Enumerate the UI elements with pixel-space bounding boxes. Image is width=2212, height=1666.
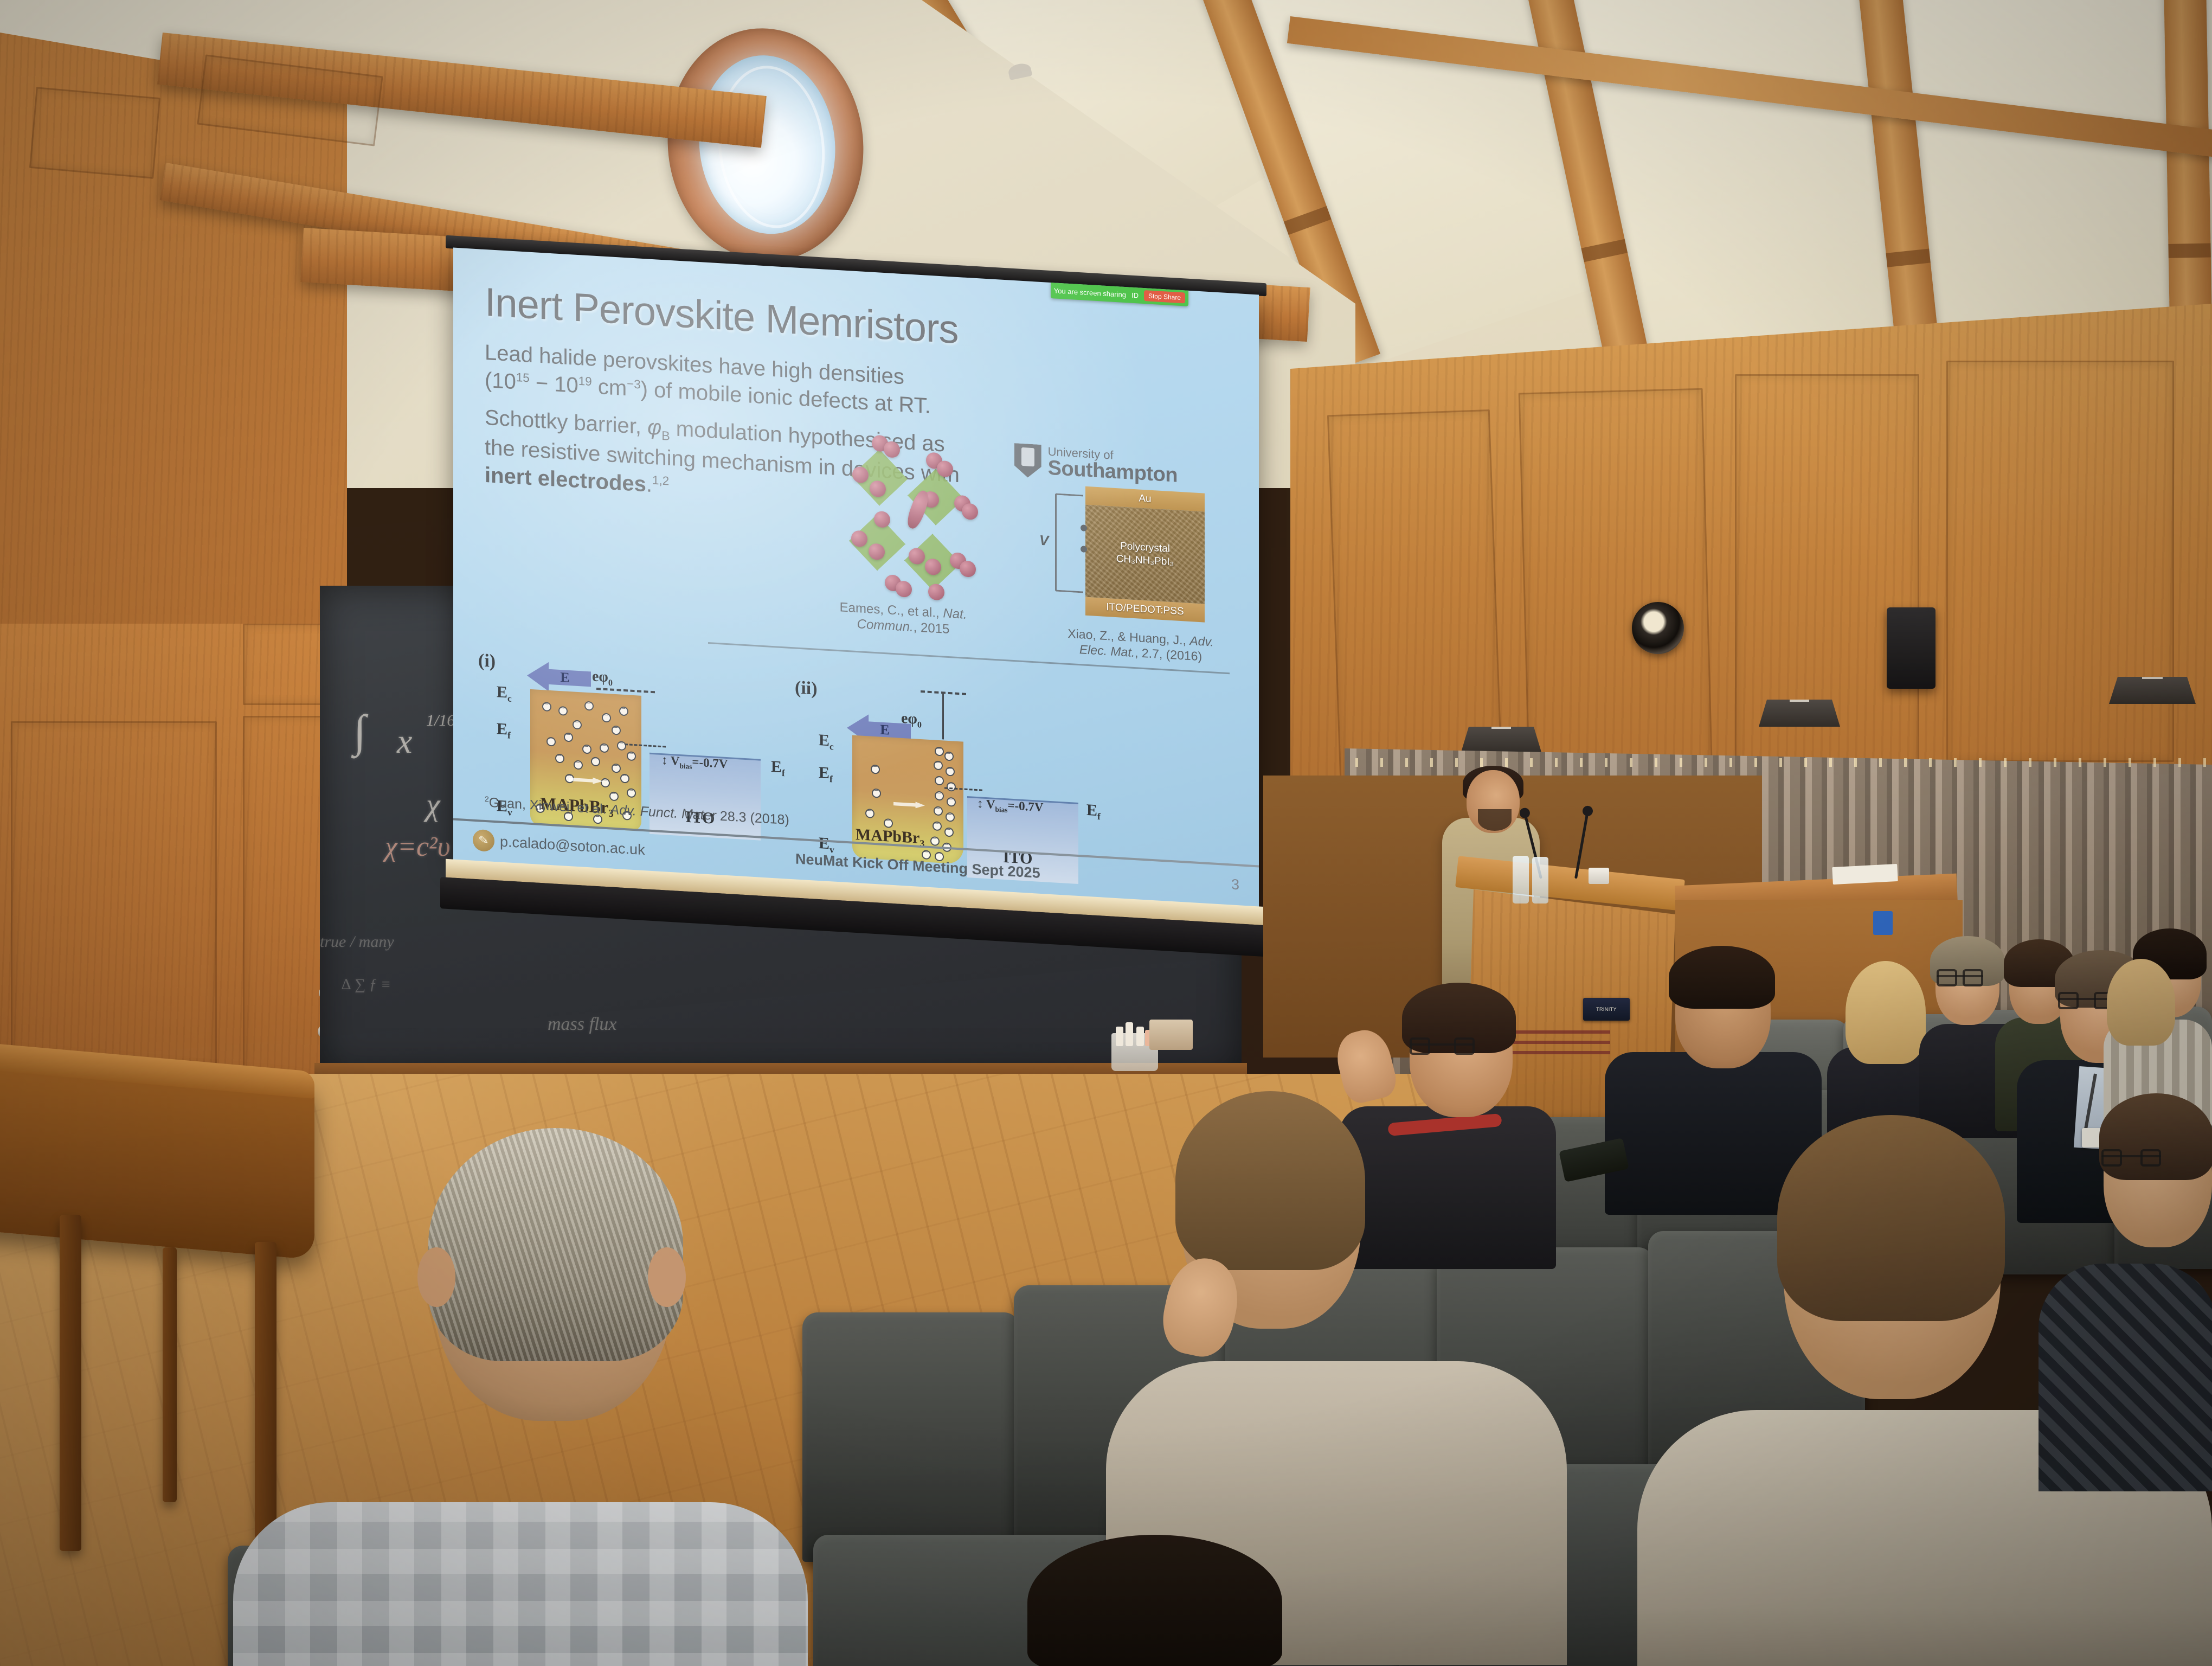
chalk-mark: χ=c²υ [385, 831, 451, 863]
pencil-icon: ✎ [471, 829, 496, 852]
stop-share-button[interactable]: Stop Share [1144, 290, 1185, 303]
band-diagram-ii: (ii) E [795, 677, 1131, 860]
lecture-hall-photo: ∫ x 1/16 χ χ=c²υ mass flux true / many ∆… [0, 0, 2212, 1666]
eyeglasses [1410, 1043, 1475, 1046]
crystal-caption: Eames, C., et al., Nat. Commun., 2015 [822, 599, 985, 639]
chalk-mark: x [397, 721, 412, 761]
eyeglasses [1937, 975, 1983, 977]
chalk-mark: ∆ ∑ ƒ ≡ [342, 976, 391, 994]
meeting-id-label: ID [1131, 291, 1139, 299]
wall-speaker [1887, 607, 1935, 689]
barrier-label-i: eφ0 [592, 668, 613, 689]
ion-drift-arrow-i [569, 776, 603, 785]
curtain-rail-lights [1355, 758, 2212, 767]
eyeglasses [2101, 1155, 2161, 1157]
presenter-email-text: p.calado@soton.ac.uk [500, 833, 645, 858]
wall-panel [29, 87, 160, 178]
wall-sconce [1759, 700, 1840, 727]
trinity-college-plaque: TRINITY [1583, 998, 1630, 1021]
water-bottle [1513, 856, 1529, 904]
level-ef-ii: Ef [819, 764, 833, 785]
piano-leg [60, 1215, 81, 1551]
audience-hair [1175, 1091, 1365, 1270]
audience-hair [1669, 946, 1775, 1009]
barrier-label-ii: eφ0 [901, 710, 922, 731]
shield-icon [1014, 443, 1041, 478]
wall-panel [1519, 388, 1713, 784]
perovskite-crystal-figure [844, 433, 979, 599]
presenter-beard [1478, 809, 1512, 831]
presenter-email: ✎ p.calado@soton.ac.uk [473, 829, 645, 861]
water-bottle [1532, 857, 1548, 904]
chalk-mark: χ [426, 786, 440, 823]
audience-shoulders [233, 1502, 808, 1666]
wall-panel [11, 721, 217, 1068]
wall-sconce [1461, 727, 1542, 754]
ear [648, 1247, 686, 1307]
ion-drift-arrow-ii [893, 800, 925, 809]
audience-hair [1777, 1115, 2005, 1321]
porthole-window-glass [690, 49, 844, 241]
device-stack-figure: V Au Polycrystal CH₃NH₃PbI₃ ITO/PEDOT:PS… [1085, 486, 1205, 623]
chalk-mark: ∫ [353, 705, 366, 758]
wall-sconce [2109, 677, 2196, 704]
field-arrow-ii-label: E [880, 722, 889, 739]
level-ec-i: Ec [497, 683, 512, 704]
chalk-mark: 1/16 [426, 712, 455, 730]
audience-hair [2099, 1093, 2212, 1180]
field-arrow-i-label: E [560, 669, 569, 686]
audience-hair [1027, 1535, 1282, 1666]
barrier-measure-ii [942, 693, 944, 739]
barrier-dashline-i [596, 688, 655, 693]
ear [417, 1247, 455, 1307]
eyeglasses [2058, 998, 2114, 1000]
band-diagram-ii-index: (ii) [795, 677, 818, 699]
seat[interactable] [802, 1312, 1019, 1562]
screen-share-status: You are screen sharing [1054, 286, 1126, 299]
chalk-mark: mass flux [548, 1014, 617, 1035]
audience-hair-blonde [1846, 961, 1926, 1064]
field-arrow-i: E [527, 661, 591, 694]
level-ef-ito-i: Ef [771, 758, 785, 779]
slide-number: 3 [1191, 874, 1239, 893]
university-of-southampton-logo: University of Southampton [1014, 443, 1178, 486]
audience-hair-blonde [2107, 959, 2175, 1046]
piano-pedal-post [163, 1247, 177, 1502]
audience-shoulders [2039, 1264, 2212, 1491]
chalk-mark: true / many [320, 933, 394, 951]
voltage-label: V [1039, 532, 1049, 549]
papers-on-table [1832, 864, 1898, 885]
level-ef-i: Ef [497, 720, 511, 741]
stack-caption: Xiao, Z., & Huang, J., Adv. Elec. Mat., … [1059, 626, 1222, 665]
wall-clock [1632, 602, 1684, 654]
level-ef-ito-ii: Ef [1086, 801, 1101, 823]
piano-leg [255, 1242, 276, 1551]
voltage-source: V [1055, 493, 1083, 593]
level-ec-ii: Ec [819, 731, 834, 753]
blue-sign [1873, 911, 1893, 935]
projection-screen-assembly: You are screen sharing ID Stop Share Ine… [453, 248, 1259, 957]
projection-screen: You are screen sharing ID Stop Share Ine… [453, 248, 1259, 908]
presentation-slide: You are screen sharing ID Stop Share Ine… [453, 248, 1259, 908]
coffee-cup [1589, 868, 1609, 884]
tissue-box [1149, 1020, 1193, 1050]
audience-hair-grey [428, 1128, 683, 1361]
band-diagram-i-index: (i) [478, 650, 496, 672]
stack-layer-perovskite: Polycrystal CH₃NH₃PbI₃ [1085, 505, 1205, 604]
plaque-text: TRINITY [1596, 1007, 1617, 1012]
